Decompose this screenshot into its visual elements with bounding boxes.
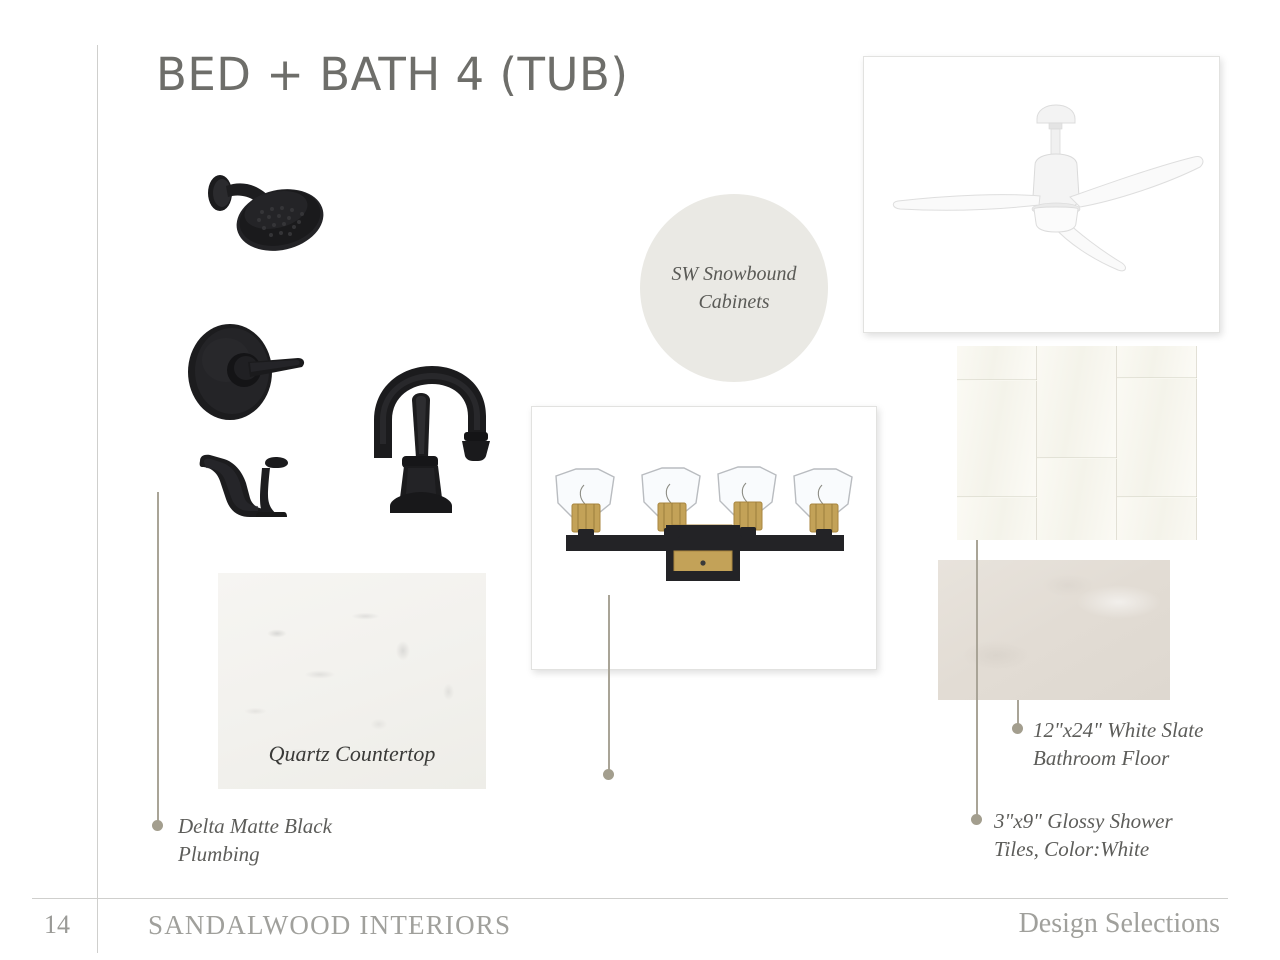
design-selections-slide: BED + BATH 4 (TUB): [0, 0, 1280, 960]
footer-section-title: Design Selections: [1019, 908, 1220, 940]
leader-line-plumbing: [157, 492, 159, 824]
quartz-countertop-label: Quartz Countertop: [218, 741, 486, 767]
shower-head-icon: [196, 166, 346, 266]
leader-line-shower-tile: [976, 540, 978, 820]
footer-page-number: 14: [44, 910, 70, 940]
lavatory-faucet-icon: [350, 358, 500, 523]
caption-floor-tile: 12"x24" White Slate Bathroom Floor: [1033, 717, 1273, 773]
paint-swatch-label: SW Snowbound Cabinets: [672, 260, 797, 316]
leader-dot-shower-tile: [971, 814, 982, 825]
paint-swatch-circle: SW Snowbound Cabinets: [640, 194, 828, 382]
vanity-light-photo-card: [531, 406, 877, 670]
bathroom-floor-tile-swatch: [938, 560, 1170, 700]
left-vertical-divider: [97, 45, 98, 953]
shower-valve-trim-icon: [186, 322, 311, 422]
caption-shower-tile: 3"x9" Glossy Shower Tiles, Color:White: [994, 808, 1264, 864]
leader-dot-floor-tile: [1012, 723, 1023, 734]
quartz-countertop-swatch: Quartz Countertop: [218, 573, 486, 789]
leader-line-vanity-light: [608, 595, 610, 775]
leader-dot-vanity-light: [603, 769, 614, 780]
leader-dot-plumbing: [152, 820, 163, 831]
vanity-light-icon: [532, 407, 876, 669]
tub-spout-icon: [190, 443, 310, 523]
footer-divider: [32, 898, 1228, 899]
shower-tile-swatch: [957, 346, 1197, 540]
caption-plumbing: Delta Matte Black Plumbing: [178, 813, 438, 869]
ceiling-fan-icon: [864, 57, 1219, 332]
ceiling-fan-photo-card: [863, 56, 1220, 333]
page-title: BED + BATH 4 (TUB): [156, 48, 628, 101]
footer-brand: SANDALWOOD INTERIORS: [148, 910, 511, 941]
